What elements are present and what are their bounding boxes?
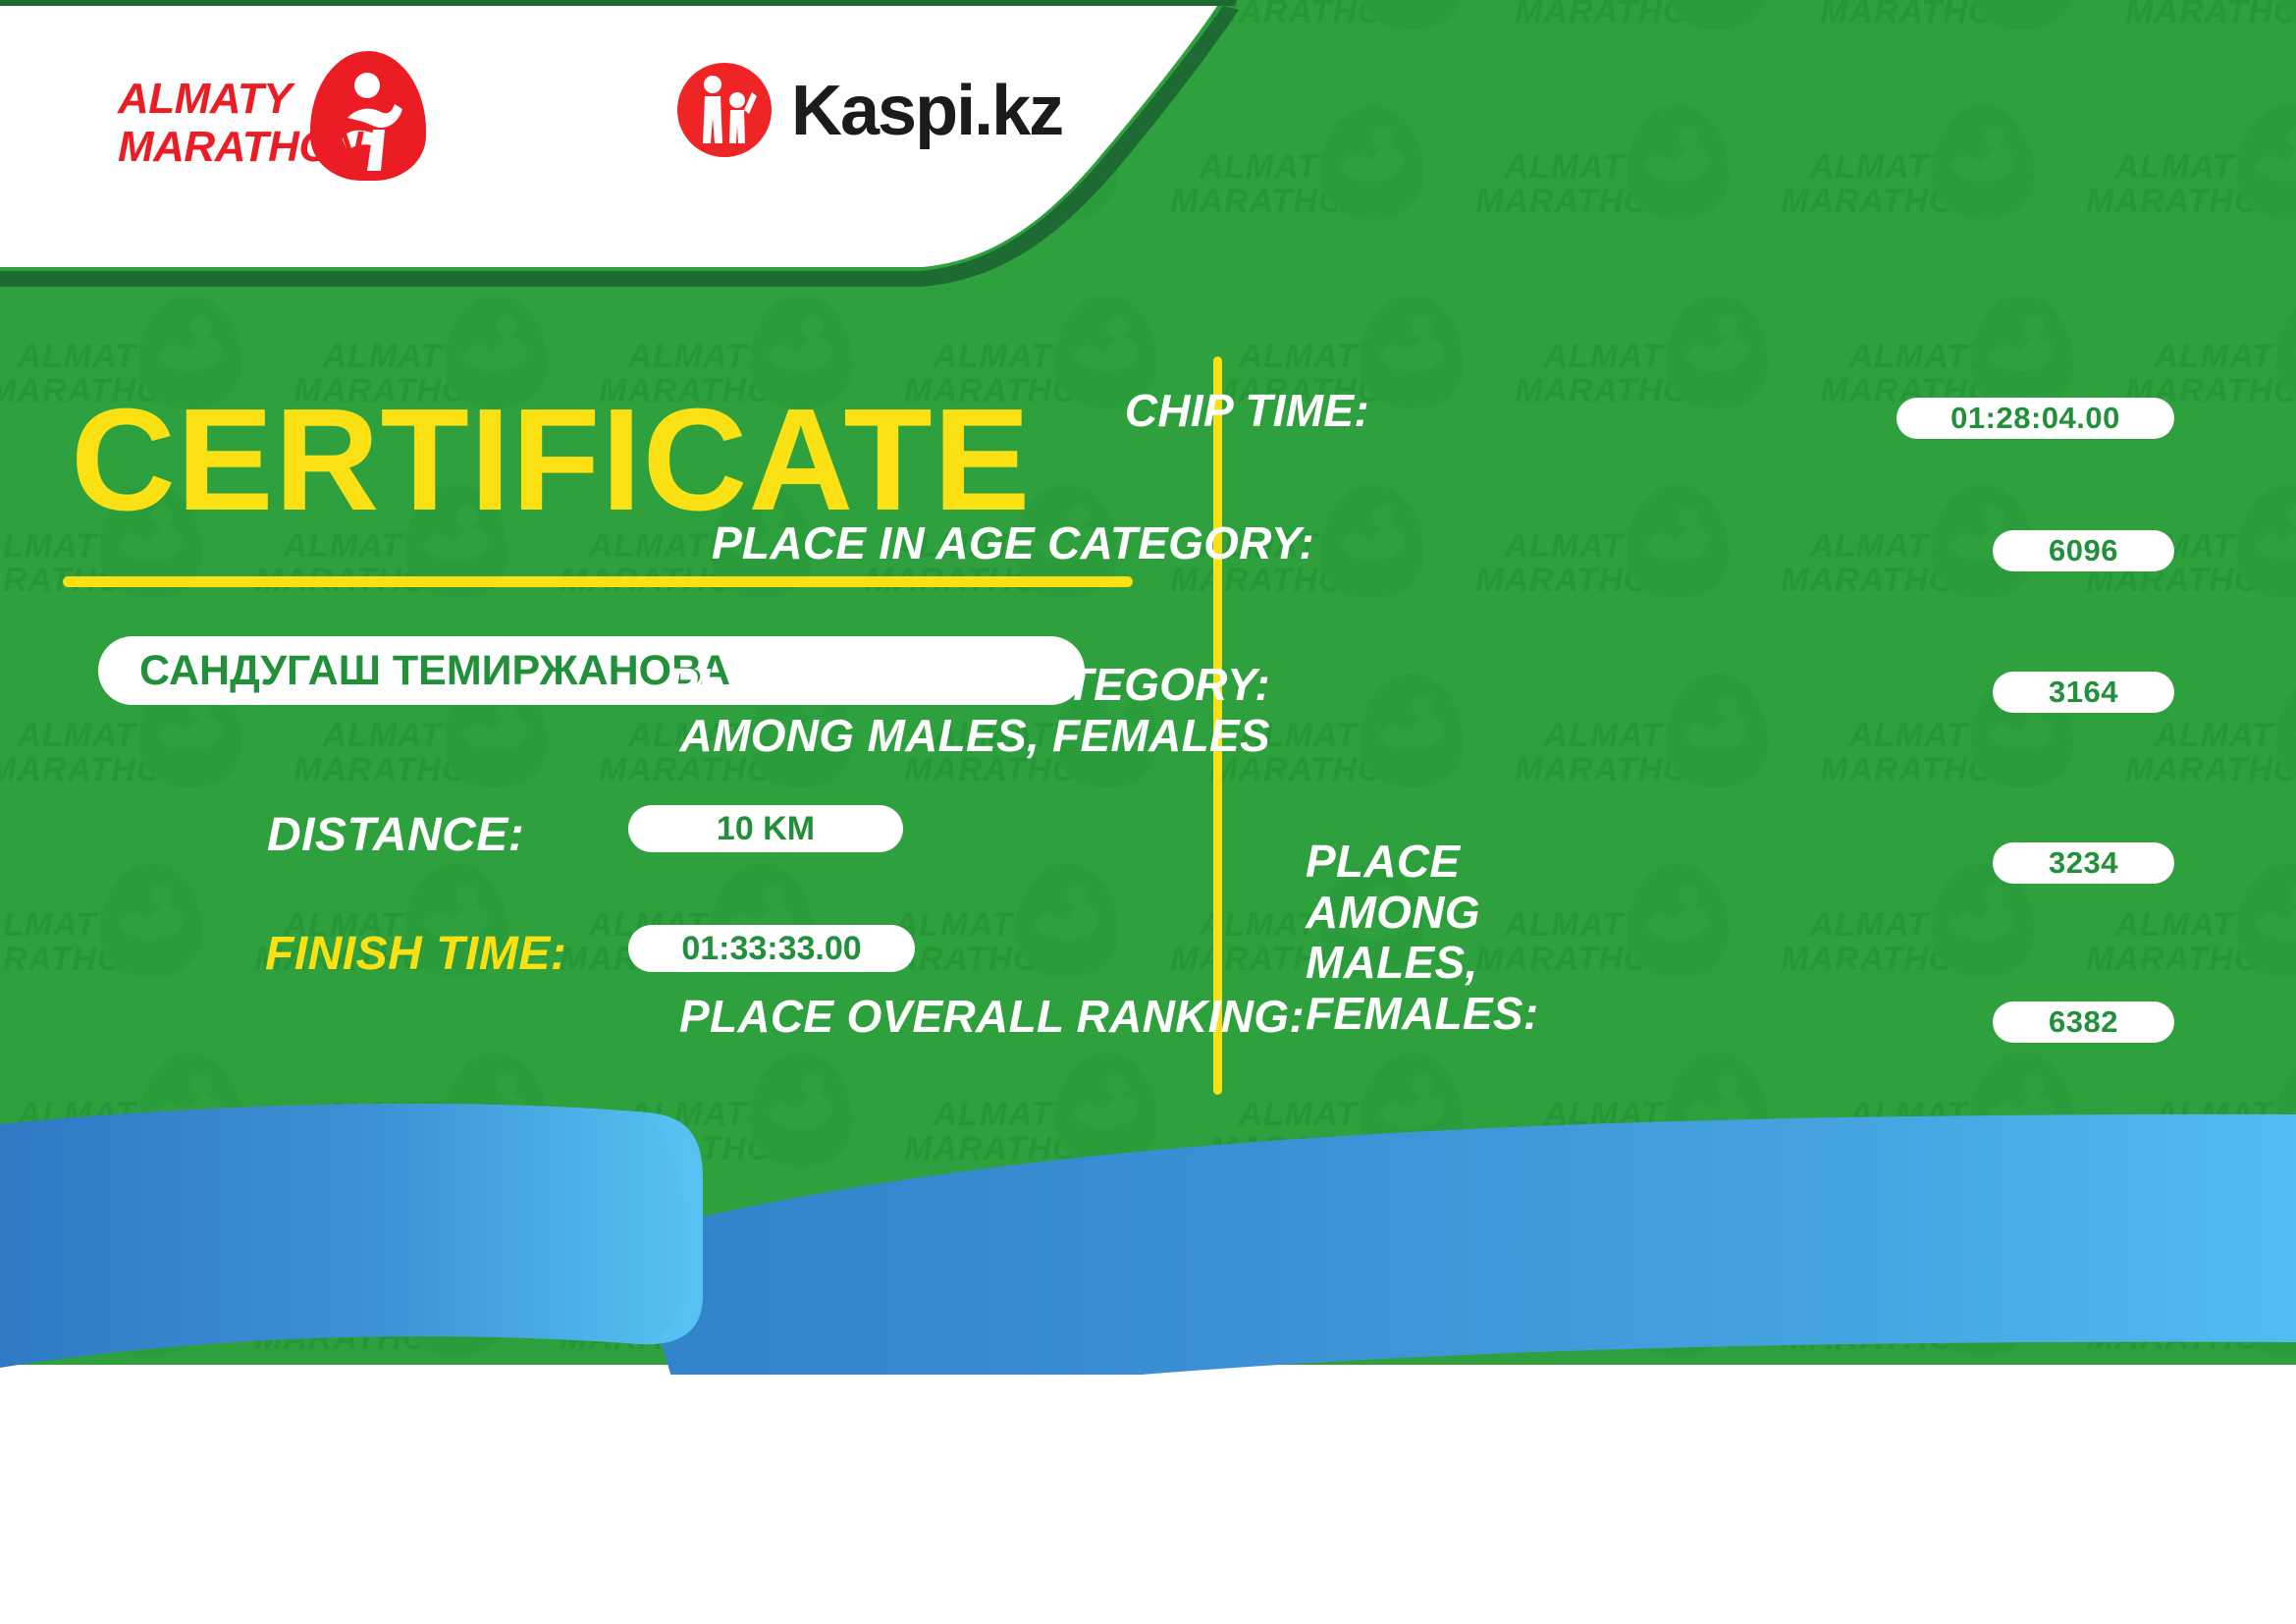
finish-time-label: FINISH TIME: [265, 927, 566, 981]
stat-value-chip-time: 01:28:04.00 [1896, 398, 2174, 439]
watermark-tile: ALMATYMARATHON [1734, 908, 2028, 976]
distance-value: 10 KM [628, 805, 903, 852]
header-panel: ALMATY MARATHON Kaspi.kz [0, 0, 2296, 295]
watermark-tile: ALMATYMARATHON [246, 719, 541, 786]
watermark-tile: ALMATYMARATHON [1428, 529, 1723, 597]
finish-time-value: 01:33:33.00 [628, 925, 915, 972]
stat-label-place-age: PLACE IN AGE CATEGORY: [712, 518, 1314, 569]
watermark-tile: ALMATYMARATHON [1468, 719, 1762, 786]
watermark-tile: ALMATYMARATHON [0, 908, 196, 976]
watermark-tile: ALMATYMARATHON [2039, 908, 2296, 976]
distance-label: DISTANCE: [267, 808, 524, 862]
kaspi-logo: Kaspi.kz [677, 57, 1090, 165]
stat-value-place-age-among: 3164 [1993, 672, 2174, 713]
sponsor-bar: Sulpak SANOFI Empowering Life ORIFLAME S… [0, 1375, 2296, 1624]
stat-value-place-age: 6096 [1993, 530, 2174, 571]
stat-label-overall: PLACE OVERALL RANKING: [679, 992, 1305, 1043]
stat-label-chip-time: CHIP TIME: [1125, 386, 1369, 437]
watermark-tile: ALMATYMARATHON [1468, 340, 1762, 407]
watermark-tile: ALMATYMARATHON [1734, 529, 2028, 597]
stat-value-place-among: 3234 [1993, 842, 2174, 884]
watermark-tile: ALMATYMARATHON [0, 719, 236, 786]
kaspi-logo-text: Kaspi.kz [791, 71, 1062, 151]
watermark-tile: ALMATYMARATHON [1773, 719, 2067, 786]
ribbon-banner: APRIL21st RUN FOR SENSATIONS [0, 1085, 2296, 1409]
watermark-tile: ALMATYMARATHON [2078, 719, 2296, 786]
certificate-canvas: ALMATYMARATHONALMATYMARATHONALMATYMARATH… [0, 0, 2296, 1624]
stat-value-overall: 6382 [1993, 1001, 2174, 1043]
almaty-logo-text: ALMATY MARATHON [118, 75, 362, 172]
kaspi-family-icon [683, 67, 766, 153]
almaty-marathon-logo: ALMATY MARATHON [118, 51, 442, 177]
page-title: CERTIFICATE [71, 388, 1031, 533]
title-underline [63, 576, 1133, 587]
stat-label-place-age-among: PLACE IN AGE CATEGORY: AMONG MALES, FEMA… [667, 660, 1270, 761]
ribbon-shape [0, 1085, 2296, 1419]
